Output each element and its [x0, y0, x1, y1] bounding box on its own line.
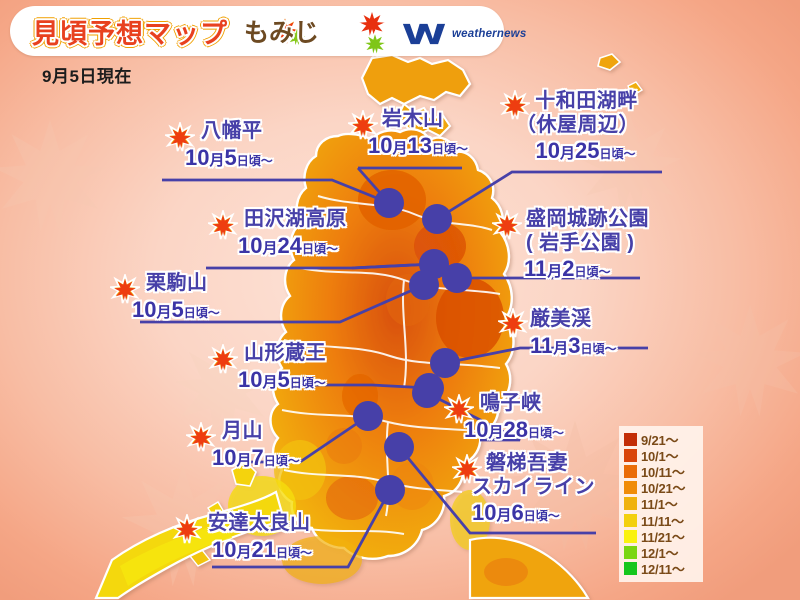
- legend-label: 12/11～: [641, 559, 685, 578]
- spot-name: 鳴子峡: [480, 392, 564, 415]
- maple-leaf-icon: [186, 422, 216, 457]
- spot-label-iwakisan[interactable]: 岩木山 10月13日頃～: [348, 108, 468, 158]
- spot-date: 10月5日頃～: [185, 145, 273, 170]
- map-marker-adatara[interactable]: [375, 475, 405, 505]
- spot-label-tazawako-kogen[interactable]: 田沢湖高原 10月24日頃～: [208, 208, 347, 258]
- legend-row: 12/1～: [624, 544, 699, 560]
- legend-swatch: [624, 497, 637, 510]
- legend-row: 10/21～: [624, 480, 699, 496]
- spot-date: 10月5日頃～: [238, 367, 326, 392]
- page-title: 見頃予想マップ: [32, 12, 228, 51]
- spot-name: 栗駒山: [146, 272, 220, 295]
- legend-swatch: [624, 481, 637, 494]
- spot-name-sub: （休屋周辺）: [516, 114, 639, 137]
- map-marker-narukokyo[interactable]: [412, 378, 442, 408]
- weathernews-logo: weathernews: [402, 23, 526, 45]
- legend-row: 10/11～: [624, 463, 699, 479]
- spot-label-genbikei[interactable]: 厳美渓 11月3日頃～: [500, 308, 617, 358]
- spot-name: 月山: [222, 420, 300, 443]
- spot-name: 山形蔵王: [244, 342, 326, 365]
- maple-leaf-icon: [492, 210, 522, 245]
- spot-name: 盛岡城跡公園: [526, 208, 649, 231]
- maple-leaf-icon: [444, 394, 474, 429]
- brand-name: weathernews: [452, 28, 526, 40]
- foliage-zone: [326, 428, 362, 464]
- map-marker-gassan[interactable]: [353, 401, 383, 431]
- maple-leaf-icon: [452, 454, 482, 489]
- islet: [598, 54, 620, 70]
- spot-label-kurikomayama[interactable]: 栗駒山 10月5日頃～: [110, 272, 220, 322]
- legend-row: 11/1～: [624, 496, 699, 512]
- legend-row: 10/1～: [624, 447, 699, 463]
- spot-date: 10月7日頃～: [212, 445, 300, 470]
- spot-name: 八幡平: [201, 120, 273, 143]
- spot-date: 10月5日頃～: [132, 297, 220, 322]
- spot-label-hachimantai[interactable]: 八幡平 10月5日頃～: [165, 120, 273, 170]
- spot-name: 岩木山: [382, 108, 468, 131]
- as-of-date: 9月5日現在: [42, 62, 132, 87]
- spot-label-gassan[interactable]: 月山 10月7日頃～: [186, 420, 300, 470]
- maple-leaf-icon: [348, 110, 378, 145]
- map-marker-hachimantai[interactable]: [374, 188, 404, 218]
- legend-swatch: [624, 449, 637, 462]
- foliage-forecast-map-page: 見頃予想マップ もみじ weathernews 9月5日現在 八幡平 10月5日…: [0, 0, 800, 600]
- map-marker-morioka[interactable]: [442, 263, 472, 293]
- legend-row: 11/21～: [624, 528, 699, 544]
- spot-label-adatarayama[interactable]: 安達太良山 10月21日頃～: [172, 512, 312, 562]
- spot-name: 田沢湖高原: [244, 208, 347, 231]
- spot-name-sub: ( 岩手公園 ): [526, 232, 649, 255]
- spot-date: 11月3日頃～: [530, 333, 617, 358]
- spot-name: 安達太良山: [208, 512, 312, 535]
- legend-swatch: [624, 562, 637, 575]
- legend-row: 12/11～: [624, 561, 699, 577]
- spot-name: 厳美渓: [530, 308, 617, 331]
- legend-swatch: [624, 433, 637, 446]
- spot-label-bandai-azuma-skyline[interactable]: 磐梯吾妻 スカイライン 10月6日頃～: [452, 452, 595, 525]
- legend: 9/21～ 10/1～ 10/11～ 10/21～ 11/1～ 11/11～ 1…: [619, 426, 703, 582]
- map-marker-towadakohan[interactable]: [422, 204, 452, 234]
- maple-leaf-icon: [110, 274, 140, 309]
- maple-leaf-icon: [498, 308, 528, 343]
- legend-row: 11/11～: [624, 512, 699, 528]
- spot-name: 十和田湖畔: [534, 90, 639, 113]
- spot-date: 10月13日頃～: [368, 133, 468, 158]
- maple-leaf-icon: [172, 514, 202, 549]
- spot-name-sub: スカイライン: [472, 476, 595, 499]
- foliage-zone: [484, 558, 528, 586]
- spot-label-towadakohan[interactable]: 十和田湖畔 （休屋周辺） 10月25日頃～: [500, 90, 639, 163]
- spot-label-morioka-jyoshi-koen[interactable]: 盛岡城跡公園 ( 岩手公園 ) 11月2日頃～: [492, 208, 649, 281]
- spot-date: 10月6日頃～: [472, 500, 595, 525]
- maple-leaf-icon: [165, 122, 195, 157]
- hokkaido-region: [362, 55, 470, 104]
- spot-date: 10月28日頃～: [464, 417, 564, 442]
- spot-label-yamagata-zao[interactable]: 山形蔵王 10月5日頃～: [208, 342, 326, 392]
- spot-date: 10月24日頃～: [238, 233, 347, 258]
- maple-leaf-icon: [362, 31, 388, 62]
- legend-swatch: [624, 546, 637, 559]
- subject-word: もみじ: [244, 13, 319, 49]
- spot-label-narukokyo[interactable]: 鳴子峡 10月28日頃～: [444, 392, 564, 442]
- maple-leaf-icon: [500, 90, 530, 125]
- legend-swatch: [624, 530, 637, 543]
- spot-date: 10月25日頃～: [532, 138, 639, 163]
- maple-leaf-icon: [208, 210, 238, 245]
- map-marker-kurikomayama[interactable]: [409, 270, 439, 300]
- spot-date: 11月2日頃～: [524, 256, 649, 281]
- legend-swatch: [624, 465, 637, 478]
- header-banner: 見頃予想マップ もみじ weathernews: [10, 6, 504, 56]
- maple-leaf-icon: [208, 344, 238, 379]
- map-marker-bandai[interactable]: [384, 432, 414, 462]
- legend-swatch: [624, 514, 637, 527]
- wn-logo-icon: [402, 23, 446, 45]
- legend-row: 9/21～: [624, 431, 699, 447]
- spot-name: 磐梯吾妻: [486, 452, 595, 475]
- foliage-zone: [326, 476, 378, 520]
- spot-date: 10月21日頃～: [212, 537, 312, 562]
